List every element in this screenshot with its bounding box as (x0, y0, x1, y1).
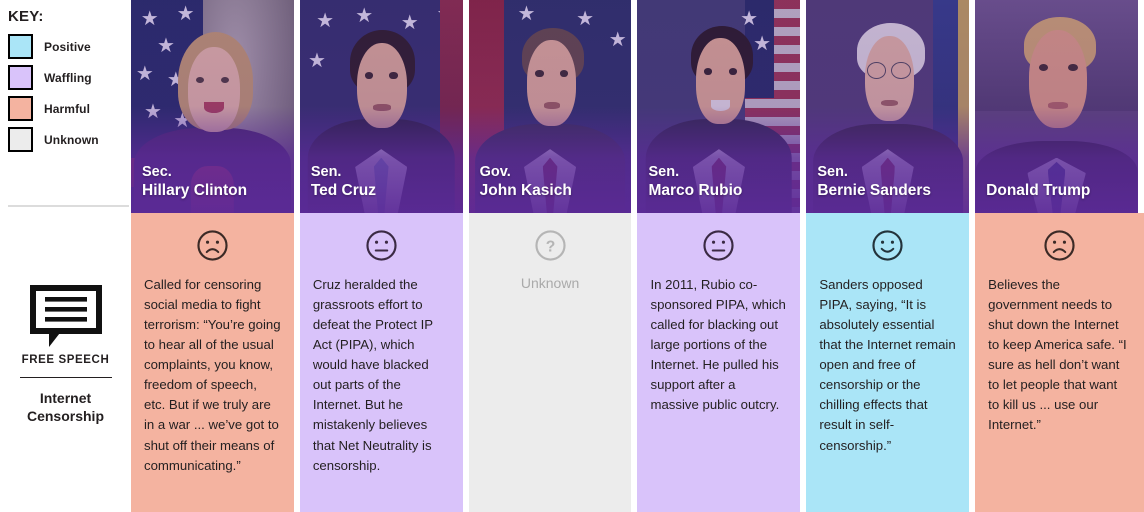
position-text: Cruz heralded the grassroots effort to d… (313, 275, 450, 476)
candidate-name: Ted Cruz (311, 181, 376, 201)
neutral-face-icon (365, 229, 398, 262)
candidate-photo-donald-trump[interactable]: Donald Trump (975, 0, 1138, 213)
nameplate-hillary-clinton: Sec. Hillary Clinton (142, 163, 247, 201)
category-subtitle: InternetCensorship (27, 389, 104, 426)
rating-icon-wrap (650, 229, 787, 262)
position-cell-hillary-clinton: Called for censoring social media to fig… (131, 213, 294, 512)
candidate-title: Sec. (142, 163, 247, 182)
legend-label-waffling: Waffling (44, 71, 92, 85)
candidate-title: Sen. (648, 163, 742, 182)
legend-label-harmful: Harmful (44, 102, 90, 116)
candidate-title: Sen. (817, 163, 931, 182)
position-text: Believes the government needs to shut do… (988, 275, 1131, 436)
candidate-comparison-grid: KEY: Positive Waffling Harmful Unknown F… (0, 0, 1144, 512)
candidate-name: John Kasich (480, 181, 572, 201)
position-text: Sanders opposed PIPA, saying, “It is abs… (819, 275, 956, 456)
rating-icon-wrap (313, 229, 450, 262)
legend-label-unknown: Unknown (44, 133, 99, 147)
position-cell-marco-rubio: In 2011, Rubio co-sponsored PIPA, which … (637, 213, 800, 512)
frown-face-icon (1043, 229, 1076, 262)
legend-label-positive: Positive (44, 40, 91, 54)
legend-item-waffling: Waffling (8, 65, 131, 90)
speech-bubble-icon (29, 285, 103, 349)
nameplate-bernie-sanders: Sen. Bernie Sanders (817, 163, 931, 201)
candidate-photo-hillary-clinton[interactable]: ★ ★ ★ ★ ★ ★ ★ Sec. Hillary Clinton (131, 0, 294, 213)
candidate-title: Sen. (311, 163, 376, 182)
candidate-name: Donald Trump (986, 181, 1090, 201)
category-name: FREE SPEECH (22, 354, 110, 366)
position-text: Called for censoring social media to fig… (144, 275, 281, 476)
legend-item-positive: Positive (8, 34, 131, 59)
candidate-photo-john-kasich[interactable]: ★ ★ ★ ★ ★ Gov. John Kasich (469, 0, 632, 213)
legend-swatch-waffling (8, 65, 33, 90)
position-cell-bernie-sanders: Sanders opposed PIPA, saying, “It is abs… (806, 213, 969, 512)
rating-icon-wrap: ? (482, 229, 619, 262)
position-cell-donald-trump: Believes the government needs to shut do… (975, 213, 1144, 512)
unknown-label: Unknown (482, 275, 619, 291)
candidate-name: Marco Rubio (648, 181, 742, 201)
legend-swatch-unknown (8, 127, 33, 152)
legend-swatch-positive (8, 34, 33, 59)
candidate-photo-bernie-sanders[interactable]: Sen. Bernie Sanders (806, 0, 969, 213)
nameplate-john-kasich: Gov. John Kasich (480, 163, 572, 201)
candidate-photo-ted-cruz[interactable]: ★ ★ ★ ★ ★ ★ Sen. Ted Cruz (300, 0, 463, 213)
svg-text:?: ? (545, 239, 555, 256)
legend-swatch-harmful (8, 96, 33, 121)
candidate-name: Bernie Sanders (817, 181, 931, 201)
legend-item-harmful: Harmful (8, 96, 131, 121)
rating-icon-wrap (988, 229, 1131, 262)
nameplate-marco-rubio: Sen. Marco Rubio (648, 163, 742, 201)
frown-face-icon (196, 229, 229, 262)
position-cell-john-kasich: ? Unknown (469, 213, 632, 512)
neutral-face-icon (702, 229, 735, 262)
rating-icon-wrap (819, 229, 956, 262)
nameplate-donald-trump: Donald Trump (986, 181, 1090, 201)
legend-item-unknown: Unknown (8, 127, 131, 152)
legend-key: KEY: Positive Waffling Harmful Unknown (0, 0, 131, 213)
candidate-photo-marco-rubio[interactable]: ★ ★ Sen. Marco Rubio (637, 0, 800, 213)
smile-face-icon (871, 229, 904, 262)
position-cell-ted-cruz: Cruz heralded the grassroots effort to d… (300, 213, 463, 512)
question-mark-icon: ? (534, 229, 567, 262)
legend-title: KEY: (8, 8, 131, 25)
category-rule (20, 377, 112, 378)
position-text: In 2011, Rubio co-sponsored PIPA, which … (650, 275, 787, 415)
sidebar-divider (8, 205, 129, 207)
rating-icon-wrap (144, 229, 281, 262)
candidate-title: Gov. (480, 163, 572, 182)
nameplate-ted-cruz: Sen. Ted Cruz (311, 163, 376, 201)
category-cell: FREE SPEECH InternetCensorship (0, 213, 131, 512)
candidate-name: Hillary Clinton (142, 181, 247, 201)
